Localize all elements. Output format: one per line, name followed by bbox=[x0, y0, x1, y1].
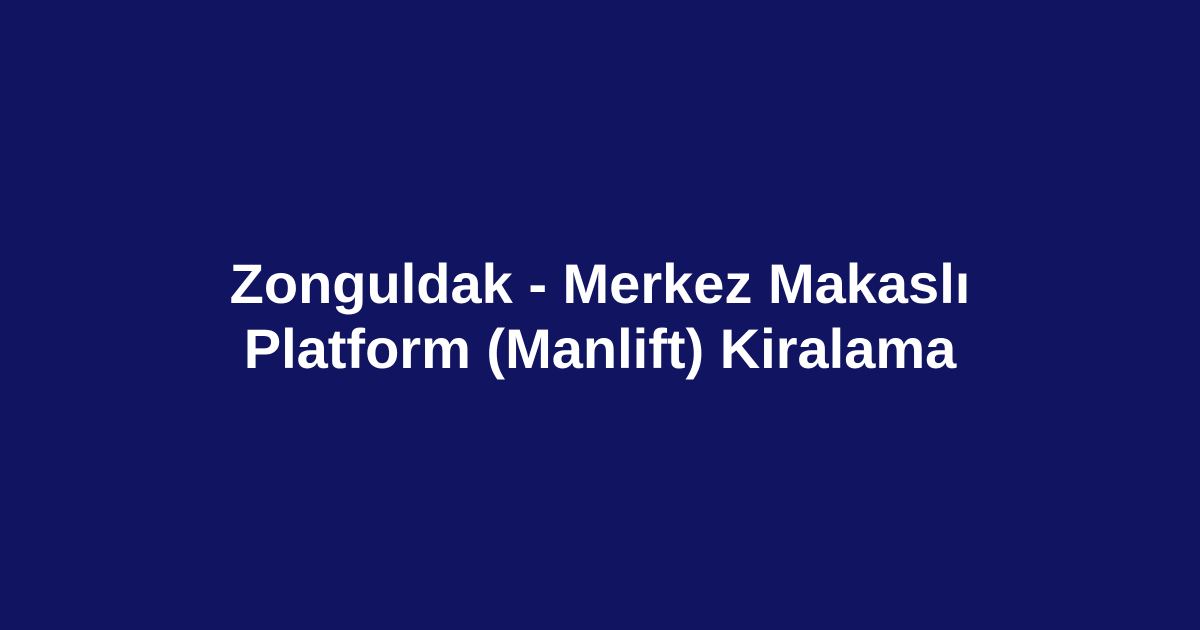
og-card: Zonguldak - Merkez Makaslı Platform (Man… bbox=[0, 0, 1200, 630]
page-title: Zonguldak - Merkez Makaslı Platform (Man… bbox=[110, 251, 1090, 381]
card-content: Zonguldak - Merkez Makaslı Platform (Man… bbox=[110, 250, 1090, 380]
